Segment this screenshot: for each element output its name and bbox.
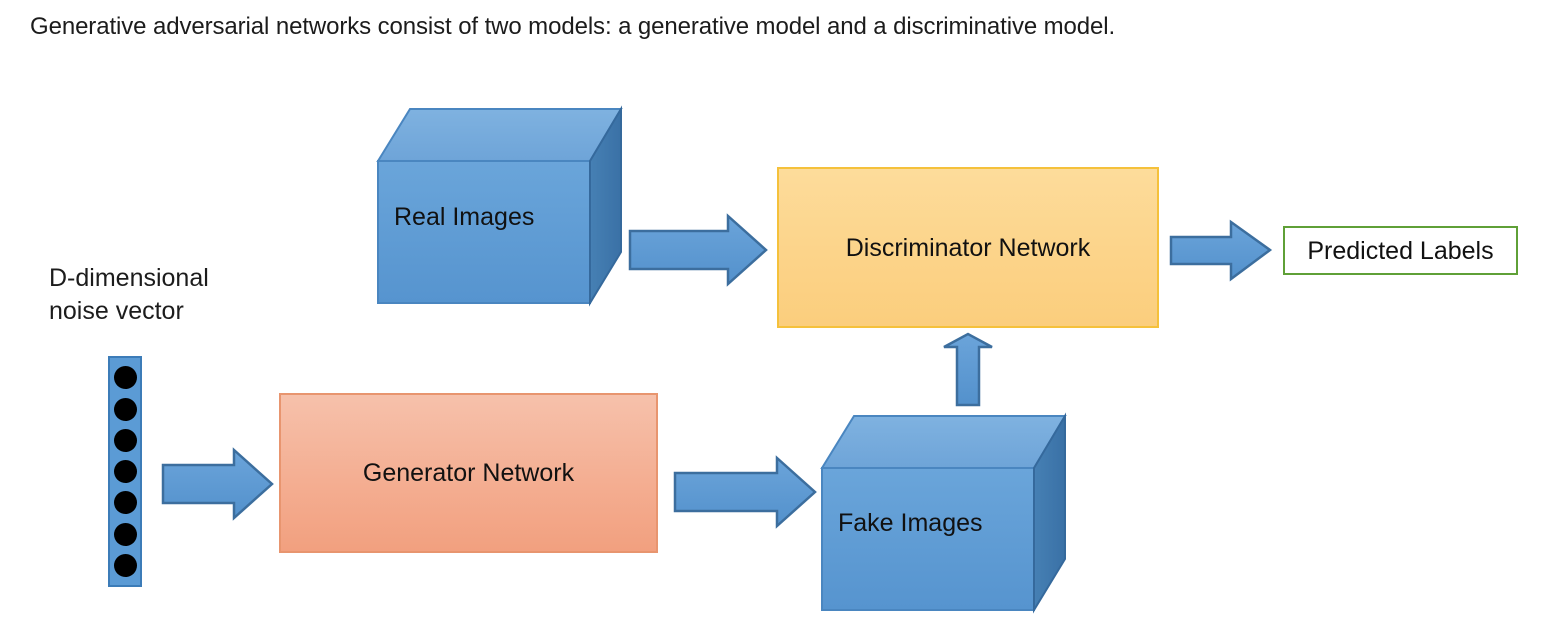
- arrow-discriminator-to-predicted-labels: [1171, 222, 1270, 279]
- noise-vector-dot: [114, 366, 137, 389]
- noise-vector-dot: [114, 523, 137, 546]
- generator-network-label: Generator Network: [363, 458, 574, 488]
- discriminator-network-box: Discriminator Network: [777, 167, 1159, 328]
- noise-vector-label-line1: D-dimensional: [49, 262, 209, 295]
- diagram-canvas: Generative adversarial networks consist …: [0, 0, 1546, 638]
- noise-vector-bar: [108, 356, 142, 587]
- noise-vector-dot: [114, 429, 137, 452]
- noise-vector-dot: [114, 398, 137, 421]
- noise-vector-dot: [114, 460, 137, 483]
- page-title: Generative adversarial networks consist …: [30, 10, 1115, 44]
- arrow-real-images-to-discriminator: [630, 216, 766, 284]
- noise-vector-label: D-dimensional noise vector: [49, 262, 209, 328]
- discriminator-network-label: Discriminator Network: [846, 233, 1090, 263]
- fake-images-label: Fake Images: [838, 508, 983, 538]
- arrow-fake-images-to-discriminator: [944, 334, 992, 405]
- real-images-label: Real Images: [394, 202, 534, 232]
- real-images-cube-front: [378, 161, 590, 303]
- arrow-generator-to-fake-images: [675, 458, 815, 526]
- noise-vector-dot: [114, 554, 137, 577]
- predicted-labels-label: Predicted Labels: [1307, 236, 1493, 266]
- diagram-shapes-layer: [0, 0, 1546, 638]
- noise-vector-label-line2: noise vector: [49, 295, 209, 328]
- generator-network-box: Generator Network: [279, 393, 658, 553]
- fake-images-cube-top: [822, 416, 1065, 468]
- fake-images-cube-front: [822, 468, 1034, 610]
- arrow-noise-to-generator: [163, 450, 272, 518]
- predicted-labels-box: Predicted Labels: [1283, 226, 1518, 275]
- noise-vector-dot: [114, 491, 137, 514]
- real-images-cube-top: [378, 109, 621, 161]
